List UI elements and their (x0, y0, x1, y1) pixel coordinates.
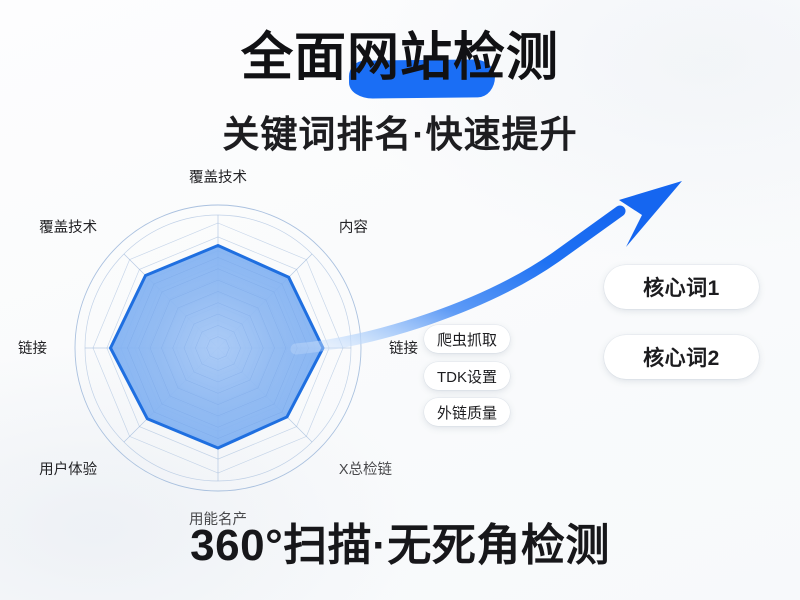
subtitle: 关键词排名·快速提升 (0, 116, 800, 153)
radar-axis-label: 覆盖技术 (39, 219, 97, 236)
page-title: 全面网站检测 (0, 32, 800, 84)
tag-pill-crawl-label: 爬虫抓取 (437, 329, 497, 350)
keyword-pill-2-label: 核心词2 (643, 342, 720, 372)
main-title: 全面网站检测 (241, 32, 559, 84)
bottom-title: 360°扫描·无死角检测 (0, 524, 800, 568)
poster-canvas: 全面网站检测 关键词排名·快速提升 覆盖技术内容链接X总检链用能名产用户体验链接… (0, 0, 800, 600)
radar-axis-label: 覆盖技术 (189, 169, 247, 186)
radar-axis-label: 链接 (18, 340, 47, 357)
keyword-pill-2[interactable]: 核心词2 (604, 335, 759, 379)
arrow-head (619, 181, 682, 247)
tag-pill-backlink-label: 外链质量 (437, 402, 497, 423)
main-title-text: 全面网站检测 (241, 29, 559, 87)
radar-axis-label: X总检链 (339, 461, 393, 478)
keyword-pill-1[interactable]: 核心词1 (604, 265, 759, 309)
tag-pill-tdk[interactable]: TDK设置 (424, 362, 510, 390)
keyword-pill-1-label: 核心词1 (643, 272, 720, 302)
radar-axis-label: 用户体验 (39, 461, 97, 478)
tag-pill-crawl[interactable]: 爬虫抓取 (424, 325, 510, 353)
tag-pill-backlink[interactable]: 外链质量 (424, 398, 510, 426)
tag-pill-tdk-label: TDK设置 (437, 366, 497, 387)
